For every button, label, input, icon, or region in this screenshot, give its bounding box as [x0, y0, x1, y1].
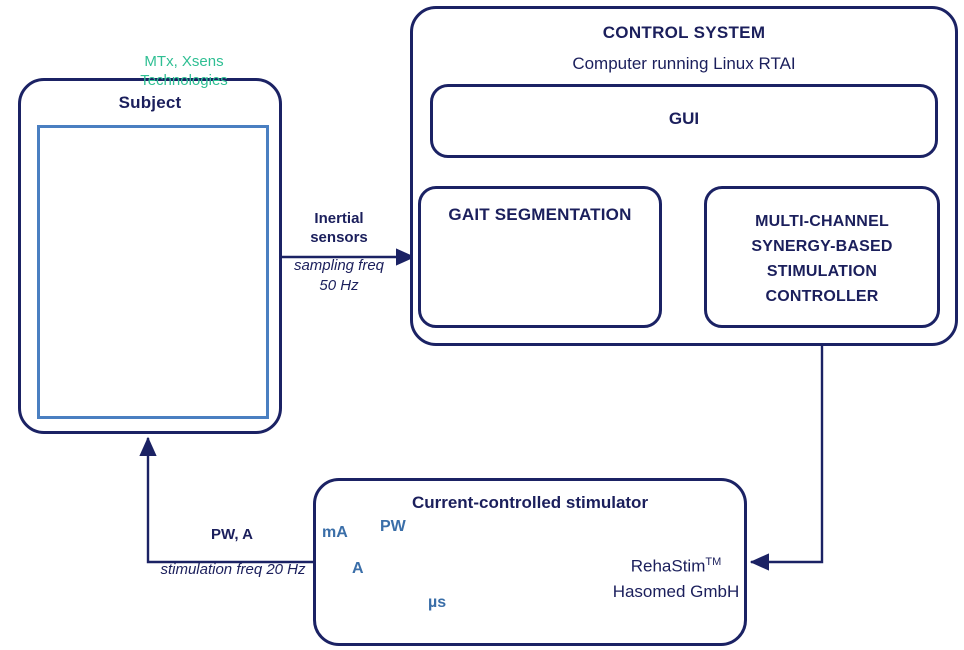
device-name-label: RehaStimTM Hasomed GmbH [596, 550, 756, 604]
waveform-x-axis-label: µs [428, 594, 446, 612]
diagram-canvas: ... 1 2 3 4 5 6 ... FES-Cycling [0, 0, 964, 650]
sampling-frequency-edge-label: sampling freq 50 Hz [284, 256, 394, 296]
controller-line-3: STIMULATION [767, 263, 877, 280]
edge-controller-to-stimulator [751, 328, 822, 562]
stimulation-params-edge-label: PW, A [172, 526, 292, 543]
gui-title: GUI [433, 109, 935, 129]
gui-box: GUI [430, 84, 938, 158]
device-manufacturer: Hasomed GmbH [613, 582, 740, 601]
stimulation-controller-title: MULTI-CHANNEL SYNERGY-BASED STIMULATION … [707, 209, 937, 309]
gait-segmentation-box: GAIT SEGMENTATION [418, 186, 662, 328]
subject-box: Subject [18, 78, 282, 434]
controller-line-4: CONTROLLER [765, 288, 878, 305]
edge-stimulator-to-subject [148, 438, 313, 562]
trademark-mark: TM [705, 556, 721, 568]
device-brand: RehaStim [631, 557, 706, 576]
stimulation-controller-box: MULTI-CHANNEL SYNERGY-BASED STIMULATION … [704, 186, 940, 328]
waveform-y-axis-label: mA [322, 524, 348, 542]
control-system-title: CONTROL SYSTEM [413, 23, 955, 43]
sensor-vendor-label: MTx, Xsens Technologies [124, 52, 244, 90]
control-system-subtitle: Computer running Linux RTAI [413, 54, 955, 74]
stimulator-title: Current-controlled stimulator [316, 493, 744, 513]
subject-title: Subject [21, 93, 279, 113]
waveform-amplitude-label: A [352, 560, 364, 578]
controller-line-2: SYNERGY-BASED [751, 238, 892, 255]
inertial-sensors-edge-label: Inertial sensors [284, 209, 394, 247]
subject-scene [37, 125, 269, 419]
waveform-pulse-width-label: PW [380, 518, 406, 536]
controller-line-1: MULTI-CHANNEL [755, 213, 889, 230]
stimulation-frequency-edge-label: stimulation freq 20 Hz [148, 560, 318, 580]
gait-segmentation-title: GAIT SEGMENTATION [421, 205, 659, 225]
